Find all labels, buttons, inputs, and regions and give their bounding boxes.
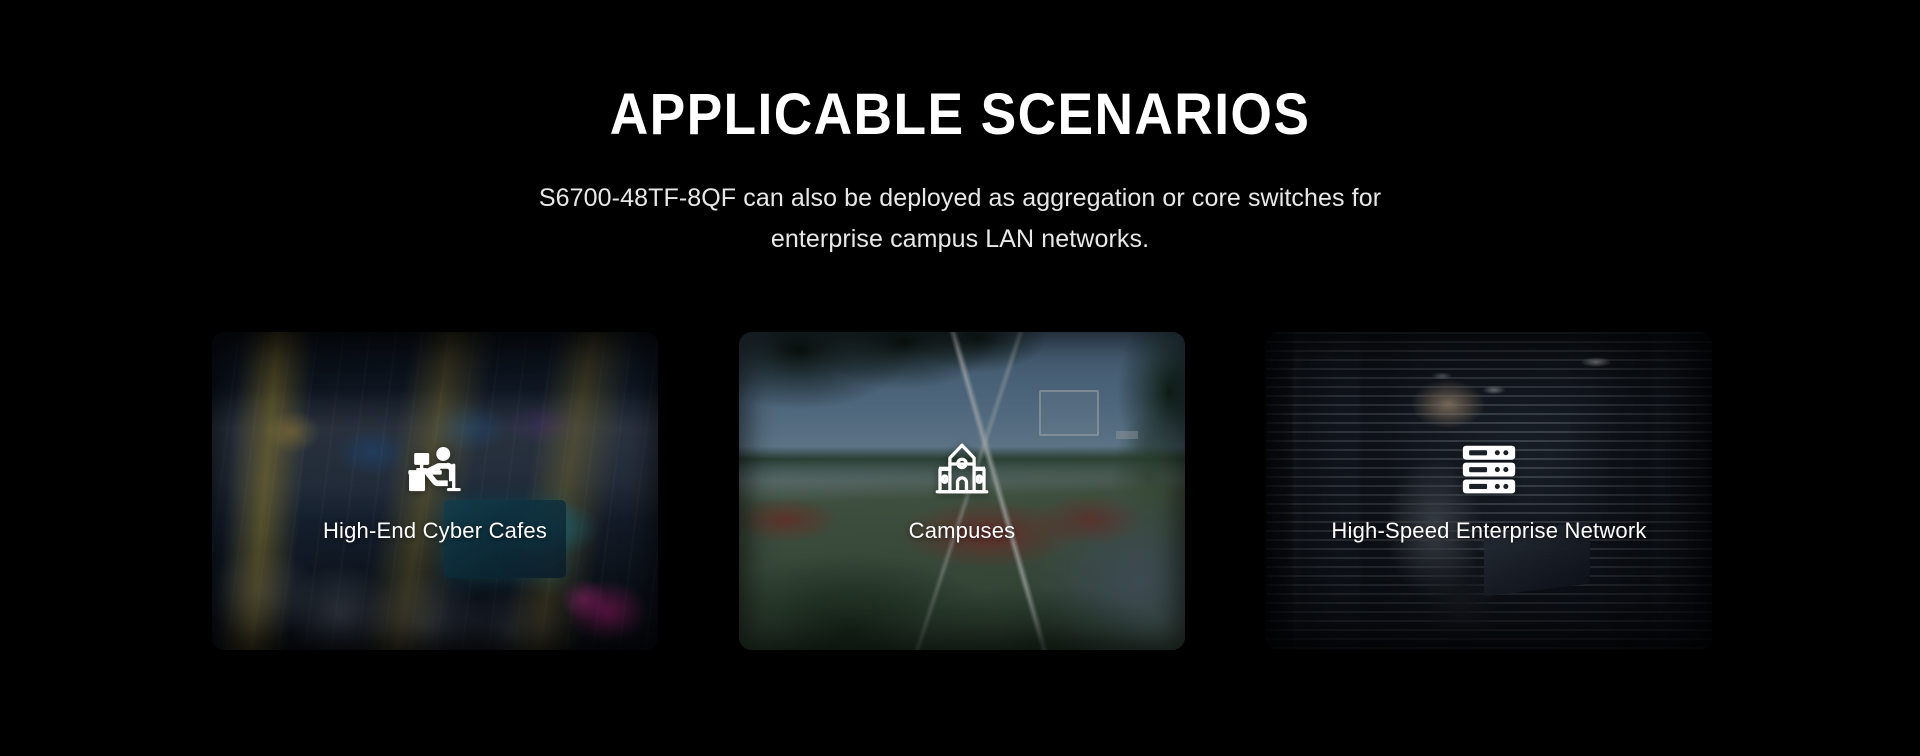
section-subtitle: S6700-48TF-8QF can also be deployed as a… bbox=[0, 178, 1920, 259]
card-label: High-Speed Enterprise Network bbox=[1331, 518, 1646, 544]
applicable-scenarios-section: APPLICABLE SCENARIOS S6700-48TF-8QF can … bbox=[0, 0, 1920, 756]
scenario-card-cyber-cafes[interactable]: High-End Cyber Cafes bbox=[212, 332, 658, 650]
card-content: Campuses bbox=[739, 332, 1185, 650]
section-title: APPLICABLE SCENARIOS bbox=[77, 86, 1843, 144]
person-at-computer-desk-icon bbox=[404, 438, 466, 500]
section-heading-block: APPLICABLE SCENARIOS S6700-48TF-8QF can … bbox=[0, 86, 1920, 259]
section-subtitle-line-2: enterprise campus LAN networks. bbox=[0, 219, 1920, 260]
card-content: High-Speed Enterprise Network bbox=[1266, 332, 1712, 650]
school-building-icon bbox=[931, 438, 993, 500]
card-label: High-End Cyber Cafes bbox=[323, 518, 547, 544]
card-label: Campuses bbox=[909, 518, 1016, 544]
card-content: High-End Cyber Cafes bbox=[212, 332, 658, 650]
server-rack-icon bbox=[1458, 438, 1520, 500]
scenario-card-enterprise-network[interactable]: High-Speed Enterprise Network bbox=[1266, 332, 1712, 650]
section-subtitle-line-1: S6700-48TF-8QF can also be deployed as a… bbox=[0, 178, 1920, 219]
scenario-card-campuses[interactable]: Campuses bbox=[739, 332, 1185, 650]
scenario-cards-row: High-End Cyber Cafes bbox=[212, 332, 1712, 650]
